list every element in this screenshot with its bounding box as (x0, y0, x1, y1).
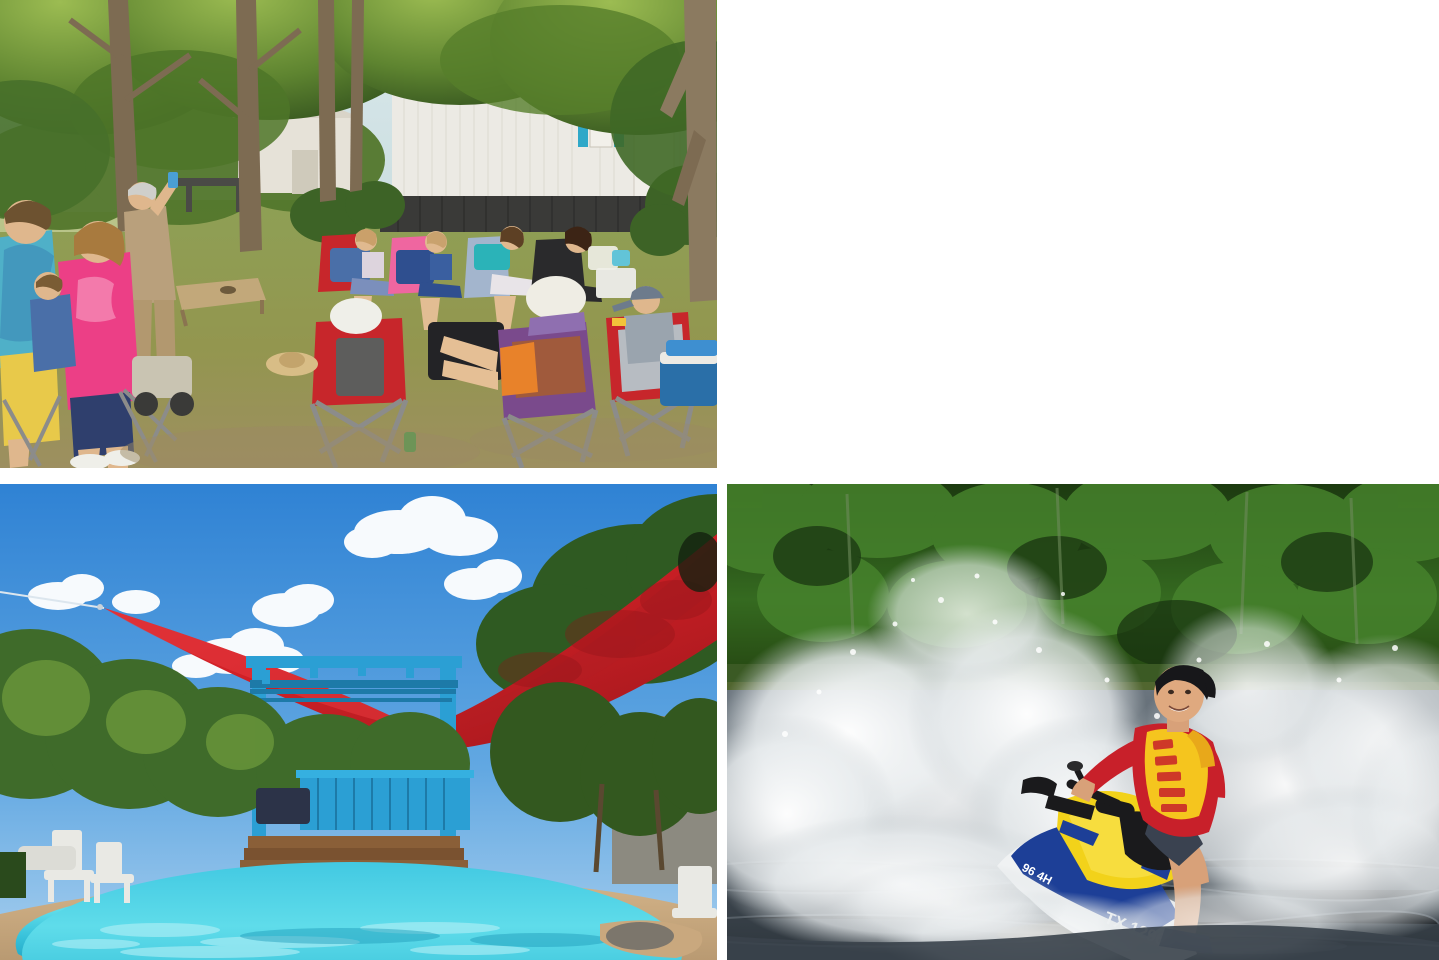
photo-collage: OUTDOOR ACTIVITIES (0, 0, 1439, 960)
photo-swimming-pool (0, 484, 717, 960)
photo-jet-ski: TX 1296 96 4H (727, 484, 1439, 960)
photo-group-gathering (0, 0, 717, 468)
